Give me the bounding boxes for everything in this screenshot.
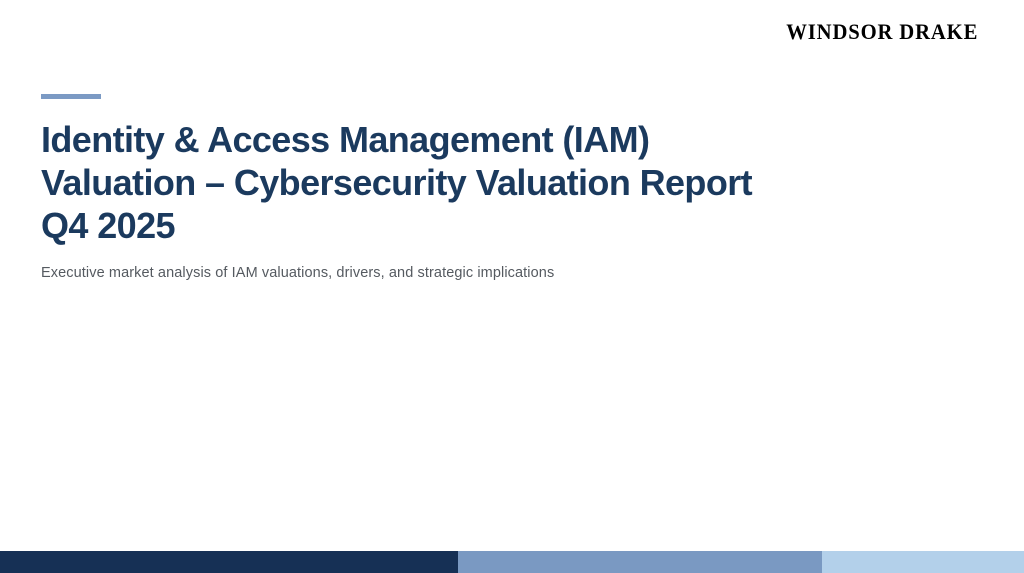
page-title: Identity & Access Management (IAM) Valua… [41, 118, 871, 247]
bottom-bar-segment-light-blue [822, 551, 1024, 573]
title-slide: WINDSOR DRAKE Identity & Access Manageme… [0, 0, 1024, 573]
title-accent-rule [41, 94, 101, 99]
page-subtitle: Executive market analysis of IAM valuati… [41, 263, 554, 283]
bottom-bar-segment-medium-blue [458, 551, 822, 573]
bottom-accent-bar [0, 551, 1024, 573]
brand-logo: WINDSOR DRAKE [786, 21, 978, 43]
title-block: Identity & Access Management (IAM) Valua… [41, 118, 871, 247]
bottom-bar-segment-dark-navy [0, 551, 458, 573]
